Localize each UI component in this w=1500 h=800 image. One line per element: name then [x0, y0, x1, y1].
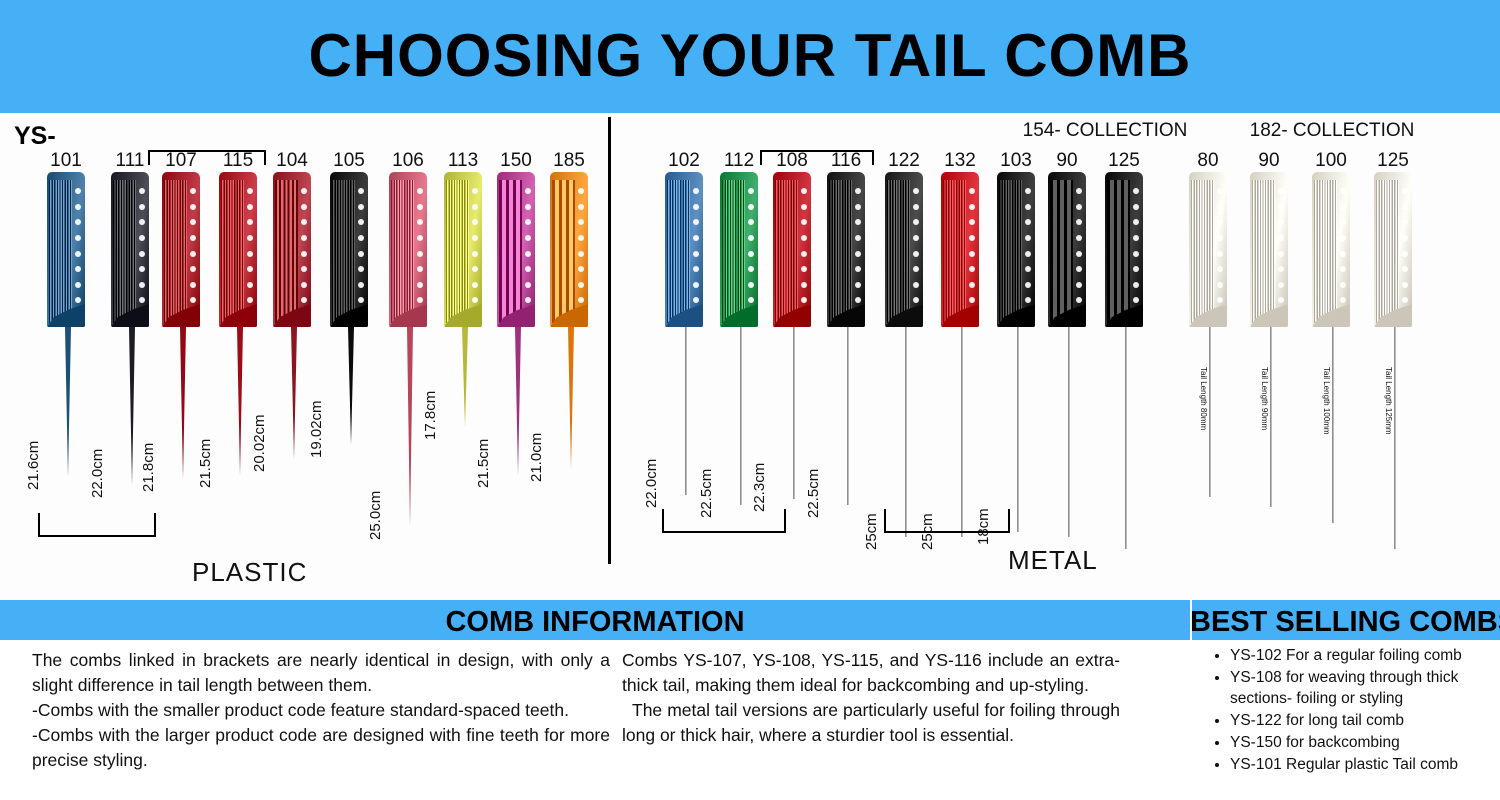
comb-spine-hole — [417, 282, 423, 288]
comb-spine-hole — [247, 251, 253, 257]
collection-label-182: 182- COLLECTION — [1232, 120, 1432, 142]
comb-tail — [462, 327, 468, 427]
comb-illustration — [1305, 172, 1357, 523]
comb-tail — [348, 327, 354, 445]
comb-spine-hole — [855, 297, 861, 303]
comb-spine-hole — [913, 282, 919, 288]
comb-tail — [1125, 327, 1127, 549]
comb-spine-hole — [301, 251, 307, 257]
comb-spine-hole — [1278, 266, 1284, 272]
comb-illustration — [1182, 172, 1234, 497]
comb-spine-hole — [358, 251, 364, 257]
comb-spine-hole — [1133, 266, 1139, 272]
comb-body — [47, 172, 85, 327]
comb-spine-hole — [801, 188, 807, 194]
comb-teeth — [1107, 180, 1130, 323]
comb-spine-hole — [913, 204, 919, 210]
comb-code-label: 112 — [713, 150, 765, 172]
comb-teeth — [164, 180, 187, 323]
comb-spine-hole — [913, 297, 919, 303]
comb-tail — [1068, 327, 1070, 537]
comb-spine-hole — [855, 204, 861, 210]
comb-code-label: 101 — [40, 150, 92, 172]
comb-spine-hole — [75, 297, 81, 303]
comb-spine-hole — [1133, 251, 1139, 257]
comb-code-label: 80 — [1182, 150, 1234, 172]
comb-spine — [469, 182, 481, 321]
comb-spine-hole — [1025, 188, 1031, 194]
comb-spine-hole — [1076, 235, 1082, 241]
comb-spine-hole — [1076, 297, 1082, 303]
metal-material-label: METAL — [1008, 545, 1098, 576]
comb-column-metal-125-12[interactable]: 125Tail Length 125mm — [1367, 150, 1419, 549]
comb-column-metal-125-8[interactable]: 125 — [1098, 150, 1150, 549]
comb-spine-hole — [417, 297, 423, 303]
comb-spine-hole — [1025, 282, 1031, 288]
comb-column-plastic-101-0[interactable]: 10121.6cm — [40, 150, 92, 477]
comb-tail — [129, 327, 135, 485]
comb-spine-hole — [301, 204, 307, 210]
comb-code-label: 150 — [490, 150, 542, 172]
comb-illustration — [1041, 172, 1093, 537]
comb-spine-hole — [578, 282, 584, 288]
info-paragraph: -Combs with the smaller product code fea… — [32, 698, 610, 723]
comb-spine-hole — [1402, 282, 1408, 288]
comb-spine-hole — [748, 204, 754, 210]
comb-spine-hole — [1278, 235, 1284, 241]
comb-spine-hole — [855, 282, 861, 288]
comb-length-label: Tail Length 125mm — [1384, 367, 1393, 435]
comb-column-plastic-185-9[interactable]: 18521.0cm — [543, 150, 595, 469]
comb-body — [1189, 172, 1227, 327]
comb-teeth — [391, 180, 414, 323]
best-selling-item: YS-108 for weaving through thick section… — [1230, 667, 1500, 709]
comb-teeth — [552, 180, 575, 323]
comb-code-label: 113 — [437, 150, 489, 172]
comb-spine-hole — [1133, 219, 1139, 225]
comb-teeth — [275, 180, 298, 323]
comb-body — [1250, 172, 1288, 327]
comb-tail — [291, 327, 297, 459]
comb-column-metal-80-9[interactable]: 80Tail Length 80mm — [1182, 150, 1234, 497]
comb-tail — [1270, 327, 1272, 507]
comb-illustration — [934, 172, 986, 537]
comb-body — [827, 172, 865, 327]
comb-spine-hole — [525, 297, 531, 303]
comb-spine-hole — [525, 282, 531, 288]
comb-illustration — [155, 172, 207, 479]
comb-code-label: 122 — [878, 150, 930, 172]
bracket-plastic-group — [38, 513, 156, 537]
comb-spine-hole — [1340, 219, 1346, 225]
best-selling-title: BEST SELLING COMBS — [1190, 606, 1500, 639]
comb-column-metal-90-7[interactable]: 90 — [1041, 150, 1093, 537]
comb-spine-hole — [139, 219, 145, 225]
comb-spine-hole — [247, 188, 253, 194]
info-paragraph: -Combs with the larger product code are … — [32, 723, 610, 773]
comb-spine-hole — [358, 282, 364, 288]
comb-tail — [961, 327, 963, 537]
comb-spine-hole — [1340, 297, 1346, 303]
comb-spine — [575, 182, 587, 321]
comb-length-label: 21.0cm — [528, 433, 545, 482]
comb-spine-hole — [190, 282, 196, 288]
comb-spine-hole — [969, 219, 975, 225]
comb-body — [665, 172, 703, 327]
comb-illustration — [490, 172, 542, 475]
comb-spine-hole — [139, 188, 145, 194]
comb-spine-hole — [358, 266, 364, 272]
comb-code-label: 104 — [266, 150, 318, 172]
comb-spine-hole — [693, 204, 699, 210]
comb-length-label: 19.02cm — [308, 400, 325, 458]
comb-spine-hole — [190, 251, 196, 257]
best-selling-item: YS-150 for backcombing — [1230, 732, 1500, 753]
comb-illustration — [1367, 172, 1419, 549]
comb-spine-hole — [190, 188, 196, 194]
comb-spine-hole — [1340, 235, 1346, 241]
comb-column-metal-132-5[interactable]: 13225cm — [934, 150, 986, 537]
comb-code-label: 132 — [934, 150, 986, 172]
comb-length-label: 22.0cm — [643, 459, 660, 508]
comb-spine-hole — [913, 266, 919, 272]
comb-length-label: 17.8cm — [422, 391, 439, 440]
comb-teeth — [332, 180, 355, 323]
comb-spine-hole — [578, 235, 584, 241]
comb-spine-hole — [1217, 235, 1223, 241]
bracket-107-115 — [148, 150, 266, 165]
comb-information-title: COMB INFORMATION — [0, 606, 1190, 639]
comb-tail — [905, 327, 907, 537]
comb-body — [885, 172, 923, 327]
comb-spine — [298, 182, 310, 321]
comb-teeth — [999, 180, 1022, 323]
comb-teeth — [1191, 180, 1214, 323]
comb-illustration — [820, 172, 872, 505]
comb-column-metal-116-3[interactable]: 11622.5cm — [820, 150, 872, 505]
comb-spine-hole — [578, 188, 584, 194]
comb-teeth — [1050, 180, 1073, 323]
comb-tail — [1209, 327, 1211, 497]
comb-teeth — [887, 180, 910, 323]
comb-spine-hole — [1076, 266, 1082, 272]
comb-length-label: 20.02cm — [251, 414, 268, 472]
comb-spine-hole — [358, 204, 364, 210]
comb-spine-hole — [1133, 282, 1139, 288]
comb-spine-hole — [913, 251, 919, 257]
comb-spine-hole — [417, 219, 423, 225]
comb-column-plastic-106-6[interactable]: 10625.0cm — [382, 150, 434, 527]
comb-spine-hole — [1340, 266, 1346, 272]
comb-information-column-2: Combs YS-107, YS-108, YS-115, and YS-116… — [622, 648, 1120, 748]
comb-spine-hole — [578, 219, 584, 225]
comb-spine-hole — [913, 235, 919, 241]
comb-spine-hole — [1217, 219, 1223, 225]
comb-body — [997, 172, 1035, 327]
comb-spine-hole — [1133, 204, 1139, 210]
comb-spine-hole — [301, 188, 307, 194]
comb-spine-hole — [1025, 235, 1031, 241]
comb-body — [219, 172, 257, 327]
comb-code-label: 100 — [1305, 150, 1357, 172]
comb-spine-hole — [358, 235, 364, 241]
comb-spine-hole — [417, 251, 423, 257]
comb-spine-hole — [1025, 219, 1031, 225]
comb-spine-hole — [525, 219, 531, 225]
comb-illustration — [713, 172, 765, 505]
comb-spine-hole — [913, 219, 919, 225]
comb-body — [1048, 172, 1086, 327]
comb-spine-hole — [801, 219, 807, 225]
comb-illustration — [543, 172, 595, 469]
comb-spine-hole — [1278, 219, 1284, 225]
best-selling-list: YS-102 For a regular foiling combYS-108 … — [1212, 645, 1500, 776]
comb-teeth — [1252, 180, 1275, 323]
comb-illustration — [40, 172, 92, 477]
comb-spine-hole — [1025, 251, 1031, 257]
comb-teeth — [943, 180, 966, 323]
best-selling-item: YS-102 For a regular foiling comb — [1230, 645, 1500, 666]
comb-spine-hole — [1402, 266, 1408, 272]
comb-spine — [910, 182, 922, 321]
comb-illustration — [658, 172, 710, 495]
comb-code-label: 125 — [1098, 150, 1150, 172]
comb-spine-hole — [1133, 235, 1139, 241]
comb-spine-hole — [301, 235, 307, 241]
comb-spine-hole — [855, 188, 861, 194]
comb-spine-hole — [1217, 204, 1223, 210]
comb-spine-hole — [247, 235, 253, 241]
bracket-metal-group-a — [662, 509, 786, 533]
comb-spine — [966, 182, 978, 321]
comb-spine — [72, 182, 84, 321]
comb-spine-hole — [748, 251, 754, 257]
comb-spine — [355, 182, 367, 321]
comb-spine-hole — [855, 219, 861, 225]
comb-spine-hole — [578, 266, 584, 272]
comb-code-label: 103 — [990, 150, 1042, 172]
comb-body — [497, 172, 535, 327]
comb-spine-hole — [139, 282, 145, 288]
comb-tail — [568, 327, 574, 469]
comb-spine — [745, 182, 757, 321]
comb-spine-hole — [247, 297, 253, 303]
comb-spine-hole — [1133, 297, 1139, 303]
comb-spine-hole — [417, 266, 423, 272]
comb-spine — [798, 182, 810, 321]
comb-spine-hole — [748, 297, 754, 303]
comb-spine-hole — [525, 235, 531, 241]
comb-spine-hole — [247, 282, 253, 288]
comb-length-label: 21.8cm — [140, 443, 157, 492]
comb-spine — [1130, 182, 1142, 321]
comb-column-metal-103-6[interactable]: 10318cm — [990, 150, 1042, 532]
comb-length-label: 21.5cm — [475, 439, 492, 488]
comb-spine-hole — [1340, 282, 1346, 288]
comb-spine-hole — [801, 235, 807, 241]
comb-spine-hole — [472, 235, 478, 241]
comb-spine-hole — [247, 219, 253, 225]
comb-body — [162, 172, 200, 327]
comb-body — [389, 172, 427, 327]
comb-tail — [793, 327, 795, 499]
comb-teeth — [722, 180, 745, 323]
comb-spine-hole — [1402, 297, 1408, 303]
comb-spine-hole — [693, 188, 699, 194]
comb-spine-hole — [1076, 219, 1082, 225]
comb-code-label: 185 — [543, 150, 595, 172]
comb-spine — [522, 182, 534, 321]
comb-spine-hole — [190, 266, 196, 272]
comb-teeth — [113, 180, 136, 323]
comb-spine-hole — [525, 266, 531, 272]
comb-spine-hole — [75, 282, 81, 288]
comb-length-label: 25cm — [863, 513, 880, 550]
comb-teeth — [1314, 180, 1337, 323]
comb-spine-hole — [1278, 204, 1284, 210]
comb-teeth — [49, 180, 72, 323]
comb-column-metal-90-10[interactable]: 90Tail Length 90mm — [1243, 150, 1295, 507]
comb-length-label: Tail Length 80mm — [1199, 367, 1208, 430]
info-paragraph: The combs linked in brackets are nearly … — [32, 648, 610, 698]
comb-code-label: 105 — [323, 150, 375, 172]
comb-tail — [237, 327, 243, 475]
comb-spine-hole — [1133, 188, 1139, 194]
comb-spine-hole — [75, 204, 81, 210]
comb-spine-hole — [578, 204, 584, 210]
comb-spine-hole — [748, 188, 754, 194]
comb-spine-hole — [969, 266, 975, 272]
comb-length-label: 25.0cm — [367, 491, 384, 540]
comb-spine-hole — [472, 188, 478, 194]
comb-spine-hole — [1402, 219, 1408, 225]
comb-column-metal-112-1[interactable]: 11222.5cm — [713, 150, 765, 505]
comb-illustration — [1098, 172, 1150, 549]
comb-spine-hole — [1217, 266, 1223, 272]
comb-body — [773, 172, 811, 327]
comb-spine-hole — [358, 297, 364, 303]
comb-spine-hole — [855, 251, 861, 257]
comb-spine-hole — [1278, 188, 1284, 194]
comb-spine-hole — [247, 204, 253, 210]
comb-tail — [740, 327, 742, 505]
comb-teeth — [829, 180, 852, 323]
comb-illustration — [878, 172, 930, 537]
comb-spine-hole — [1217, 251, 1223, 257]
comb-tail — [407, 327, 413, 527]
comb-spine-hole — [801, 297, 807, 303]
comb-spine-hole — [855, 235, 861, 241]
comb-spine-hole — [525, 204, 531, 210]
comb-spine-hole — [1340, 204, 1346, 210]
comb-spine-hole — [748, 282, 754, 288]
comb-spine-hole — [247, 266, 253, 272]
comb-tail — [1394, 327, 1396, 549]
comb-spine-hole — [578, 297, 584, 303]
comb-tail — [1332, 327, 1334, 523]
best-selling-item: YS-101 Regular plastic Tail comb — [1230, 754, 1500, 775]
comb-spine-hole — [855, 266, 861, 272]
comb-teeth — [775, 180, 798, 323]
comb-column-metal-108-2[interactable]: 10822.3cm — [766, 150, 818, 499]
comb-spine-hole — [417, 204, 423, 210]
comb-column-plastic-150-8[interactable]: 15021.5cm — [490, 150, 542, 475]
comb-column-plastic-111-1[interactable]: 11122.0cm — [104, 150, 156, 485]
comb-code-label: 90 — [1041, 150, 1093, 172]
comb-spine-hole — [969, 188, 975, 194]
comb-spine-hole — [693, 235, 699, 241]
comb-spine-hole — [75, 235, 81, 241]
comb-spine-hole — [1402, 188, 1408, 194]
comb-length-label: 22.0cm — [89, 449, 106, 498]
comb-column-plastic-105-5[interactable]: 10519.02cm — [323, 150, 375, 445]
comb-spine-hole — [1076, 204, 1082, 210]
comb-length-label: Tail Length 100mm — [1322, 367, 1331, 435]
comb-spine-hole — [578, 251, 584, 257]
comb-column-metal-102-0[interactable]: 10222.0cm — [658, 150, 710, 495]
comb-spine-hole — [190, 219, 196, 225]
comb-spine-hole — [913, 188, 919, 194]
comb-code-label: 106 — [382, 150, 434, 172]
comb-spine-hole — [1278, 251, 1284, 257]
comb-spine-hole — [525, 251, 531, 257]
comb-spine-hole — [472, 282, 478, 288]
comb-column-plastic-107-2[interactable]: 10721.8cm — [155, 150, 207, 479]
comb-spine-hole — [693, 297, 699, 303]
comb-illustration — [1243, 172, 1295, 507]
comb-spine-hole — [139, 266, 145, 272]
comb-tail — [180, 327, 186, 479]
comb-illustration — [766, 172, 818, 499]
comb-spine-hole — [358, 219, 364, 225]
comb-tail — [1017, 327, 1019, 532]
comb-body — [330, 172, 368, 327]
comb-spine-hole — [472, 297, 478, 303]
comb-spine-hole — [472, 219, 478, 225]
comb-spine-hole — [1402, 251, 1408, 257]
comb-body — [1105, 172, 1143, 327]
comb-spine-hole — [139, 297, 145, 303]
comb-spine-hole — [190, 204, 196, 210]
comb-spine-hole — [693, 251, 699, 257]
comb-spine-hole — [1278, 297, 1284, 303]
comb-teeth — [667, 180, 690, 323]
comb-tail — [515, 327, 521, 475]
bracket-metal-group-b — [884, 509, 1010, 533]
comb-spine-hole — [75, 188, 81, 194]
comb-spine-hole — [1340, 188, 1346, 194]
comb-spine — [1337, 182, 1349, 321]
comb-illustration — [104, 172, 156, 485]
comb-illustration — [990, 172, 1042, 532]
comb-spine-hole — [969, 282, 975, 288]
comb-spine — [414, 182, 426, 321]
comb-teeth — [446, 180, 469, 323]
comb-column-plastic-113-7[interactable]: 11317.8cm — [437, 150, 489, 427]
ys-prefix-label: YS- — [14, 122, 56, 151]
comb-length-label: Tail Length 90mm — [1260, 367, 1269, 430]
comb-spine — [244, 182, 256, 321]
comb-spine-hole — [1278, 282, 1284, 288]
comb-teeth — [499, 180, 522, 323]
comb-column-metal-100-11[interactable]: 100Tail Length 100mm — [1305, 150, 1357, 523]
comb-column-metal-122-4[interactable]: 12225cm — [878, 150, 930, 537]
comb-length-label: 21.5cm — [197, 439, 214, 488]
comb-spine-hole — [1402, 204, 1408, 210]
comb-spine-hole — [417, 188, 423, 194]
comb-body — [1374, 172, 1412, 327]
comb-spine — [1275, 182, 1287, 321]
